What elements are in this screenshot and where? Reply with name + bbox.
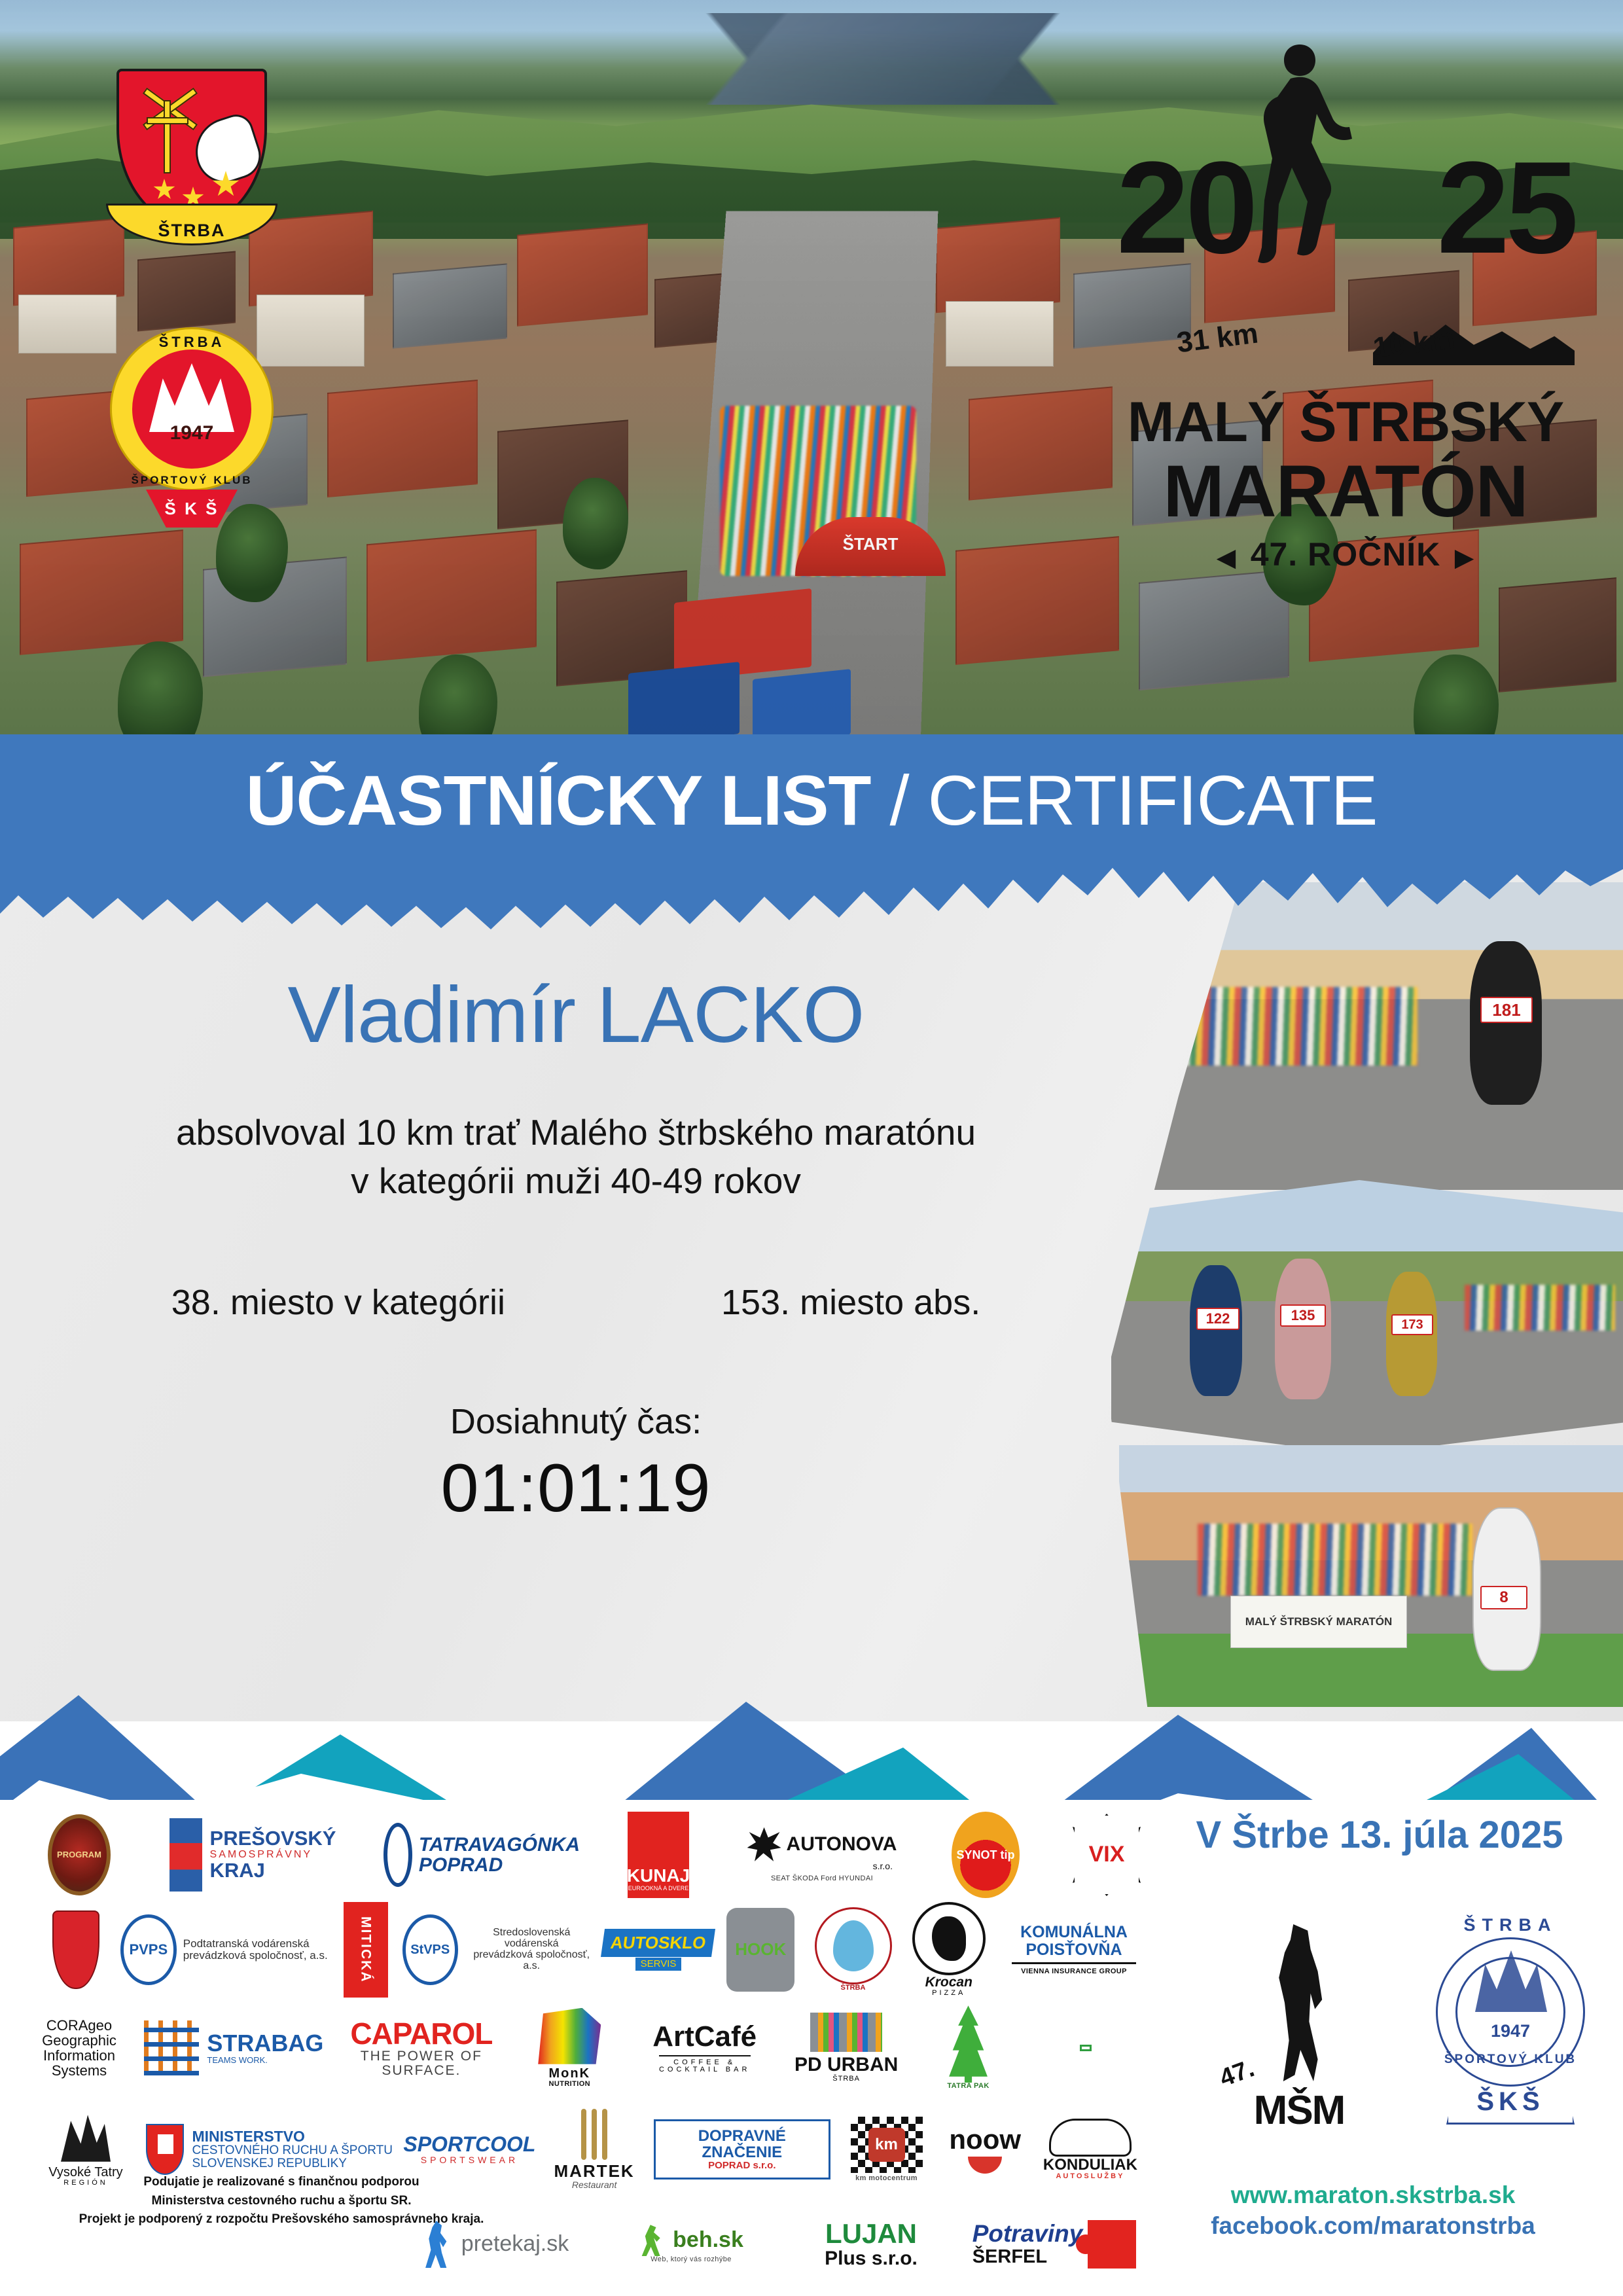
photo-finish-line: MALÝ ŠTRBSKÝ MARATÓN 8 (1119, 1445, 1623, 1707)
sponsor-row: PVPS Podtatranská vodárenská prevádzková… (37, 1901, 1149, 1999)
bib-number: 181 (1480, 997, 1533, 1023)
sponsor-label: MARTEK (554, 2162, 635, 2180)
sponsor-monk-nutrition[interactable]: ArtCafé COFFEE & COCKTAIL BAR (643, 2022, 767, 2073)
club-bottom-label: ŠPORTOVÝ KLUB (110, 474, 274, 487)
description-line-2: v kategórii muži 40-49 rokov (0, 1157, 1152, 1206)
sponsor-sub: POPRAD s.r.o. (708, 2161, 776, 2171)
sponsor-sub: SPORTSWEAR (421, 2155, 518, 2165)
sponsor-label: PROGRAM (57, 1850, 101, 1859)
sponsor-sub: TEAMS WORK. (207, 2056, 267, 2065)
placement-row: 38. miesto v kategórii 153. miesto abs. (0, 1282, 1152, 1323)
place-absolute: 153. miesto abs. (721, 1282, 980, 1323)
sponsor-label (1080, 2045, 1092, 2051)
certificate-title-banner: ÚČASTNÍCKY LIST / CERTIFICATE (0, 734, 1623, 865)
sponsor-row: CORAgeo Geographic Information Systems S… (37, 1999, 1149, 2097)
sponsor-sub: PIZZA (932, 1990, 965, 1998)
sponsor-sub: NUTRITION (549, 2081, 590, 2089)
sponsor-sportcool[interactable]: SPORTCOOL SPORTSWEAR (404, 2134, 535, 2165)
sponsor-program[interactable]: PROGRAM (37, 1814, 122, 1895)
sponsor-dopravne-znacenie[interactable]: DOPRAVNÉ ZNAČENIE POPRAD s.r.o. (654, 2119, 830, 2179)
sponsor-label: MonK (548, 2067, 590, 2081)
sponsor-tatra-pak[interactable] (1025, 2045, 1149, 2051)
sponsor-label: MINISTERSTVO (192, 2128, 305, 2144)
sponsor-label: LUJAN (825, 2219, 917, 2248)
sponsor-sub2: SEAT ŠKODA Ford HYUNDAI (771, 1875, 873, 1883)
brand-line-3: 47. ROČNÍK (1116, 535, 1575, 573)
club-top-label: ŠTRBA (110, 334, 274, 351)
sponsor-miticka[interactable]: MITICKÁ (333, 1902, 399, 1998)
place-in-category: 38. miesto v kategórii (171, 1282, 505, 1323)
sponsor-label: AUTOSKLO (609, 1933, 707, 1952)
sponsor-label: ArtCafé (652, 2022, 757, 2052)
sponsor-label: STRABAG (207, 2031, 323, 2056)
sponsor-sub: CESTOVNÉHO RUCHU A ŠPORTU (192, 2144, 393, 2157)
strba-coat-of-arms: ŠTRBA (116, 69, 267, 245)
sponsor-sub: POPRAD (419, 1855, 503, 1876)
sponsor-label: StVPS (410, 1943, 450, 1957)
sponsor-sub: SERVIS (635, 1958, 682, 1971)
sks-abbr: ŠKŠ (1432, 2087, 1589, 2117)
sponsor-strabag[interactable]: CAPAROL THE POWER OF SURFACE. (346, 2018, 497, 2078)
sponsor-sub: EUROOKNÁ A DVERE (628, 1886, 689, 1892)
distance-short: 10 km (1371, 323, 1456, 365)
sks-top-label: ŠTRBA (1432, 1915, 1589, 1935)
sponsor-label: KUNAJ (627, 1866, 690, 1885)
sponsor-sub: ŠTRBA (841, 1984, 866, 1992)
sponsor-sub: Restaurant (572, 2180, 616, 2190)
crest-label: ŠTRBA (158, 221, 226, 243)
sponsor-label: pretekaj.sk (461, 2233, 569, 2256)
sponsor-potraviny-serfel[interactable]: Potraviny ŠERFEL (959, 2220, 1149, 2269)
sponsor-caparol[interactable]: MonK NUTRITION (510, 2008, 628, 2089)
sponsor-hasicsky-zbor[interactable]: ŠTRBA (808, 1907, 899, 1992)
sponsor-vix[interactable]: VIX (1064, 1814, 1149, 1896)
sponsor-label: MITICKÁ (358, 1916, 372, 1983)
sponsor-sub: Plus s.r.o. (825, 2248, 918, 2269)
marathon-brand-lockup: 20 25 31 km 10 km MALÝ ŠTRBSKÝ MARATÓN 4… (1116, 43, 1575, 606)
distance-long: 31 km (1175, 317, 1260, 360)
sponsor-label: beh.sk (673, 2229, 743, 2252)
sponsor-sub: ŠERFEL (972, 2247, 1047, 2267)
description-line-1: absolvoval 10 km trať Malého štrbského m… (0, 1109, 1152, 1157)
sponsor-sub2: KRAJ (210, 1860, 265, 1882)
sponsor-sub: COFFEE & COCKTAIL BAR (643, 2059, 767, 2074)
sponsor-label: AUTONOVA (787, 1834, 897, 1855)
brand-year-left: 20 (1116, 154, 1254, 262)
sponsor-sub: s.r.o. (873, 1861, 893, 1871)
sponsor-label: HOOK (735, 1941, 786, 1958)
sponsor-km-motocentrum[interactable]: km km motocentrum (834, 2117, 939, 2183)
sks-club-stamp: ŠTRBA 1947 ŠPORTOVÝ KLUB ŠKŠ (1432, 1911, 1589, 2127)
sponsor-label: SPORTCOOL (403, 2134, 535, 2156)
sponsor-liptovska-teplicka-crest[interactable] (37, 1910, 115, 1989)
hero-photo: ŠTRBA ŠTRBA 1947 ŠPORTOVÝ KLUB Š K Š 20 … (0, 0, 1623, 759)
sponsor-row: PROGRAM PREŠOVSKÝ SAMOSPRÁVNY KRAJ TATRA… (37, 1809, 1149, 1901)
banner-torn-edge (0, 857, 1623, 929)
sponsor-label: VIX (1089, 1843, 1125, 1867)
sponsor-sub: Web, ktorý vás rozhýbe (651, 2256, 732, 2264)
sponsor-martek[interactable]: MARTEK Restaurant (539, 2109, 650, 2190)
funding-note-line-1: Podujatie je realizované s finančnou pod… (39, 2173, 524, 2192)
msm-event-logo: 47. MŠM (1217, 1918, 1381, 2134)
bib-number: 122 (1196, 1308, 1240, 1330)
bib-number: 173 (1391, 1314, 1433, 1335)
sponsor-sub2: prevádzková spoločnosť, a.s. (183, 1950, 328, 1962)
brand-year-right: 25 (1437, 154, 1575, 262)
funding-note: Podujatie je realizované s finančnou pod… (39, 2173, 524, 2229)
sponsor-komunalna-poistovna[interactable]: KOMUNÁLNA POISŤOVŇA VIENNA INSURANCE GRO… (999, 1924, 1149, 1975)
sponsor-label: KOMUNÁLNA POISŤOVŇA (999, 1924, 1149, 1958)
sponsor-autonova[interactable]: AUTONOVA s.r.o. SEAT ŠKODA Ford HYUNDAI (737, 1827, 907, 1882)
sponsor-sub2: prevádzková spoločnosť, a.s. (465, 1950, 599, 1972)
sponsor-noow[interactable]: noow (942, 2125, 1027, 2174)
brand-year: 20 25 (1116, 154, 1575, 262)
sponsor-label: noow (949, 2125, 1021, 2154)
sponsor-kunaj[interactable]: KUNAJ EUROOKNÁ A DVERE (616, 1812, 701, 1898)
sponsor-lujan-plus[interactable]: LUJAN Plus s.r.o. (796, 2219, 946, 2269)
certificate-content: Vladimír LACKO absolvoval 10 km trať Mal… (0, 969, 1152, 1528)
contact-links: www.maraton.skstrba.sk facebook.com/mara… (1157, 2179, 1589, 2242)
msm-runner-icon (1263, 1924, 1335, 2081)
sks-year: 1947 (1432, 2021, 1589, 2041)
sponsor-hook[interactable]: HOOK (718, 1908, 803, 1992)
sponsor-label: PVPS (129, 1942, 168, 1957)
sponsor-sub2: SLOVENSKEJ REPUBLIKY (192, 2157, 347, 2170)
bib-number: 8 (1480, 1586, 1527, 1609)
facebook-link[interactable]: facebook.com/maratonstrba (1157, 2210, 1589, 2241)
brand-line-1: MALÝ ŠTRBSKÝ (1116, 390, 1575, 455)
brand-distances: 31 km 10 km (1116, 305, 1575, 384)
sponsor-sub: VIENNA INSURANCE GROUP (1021, 1968, 1127, 1976)
sponsor-liptovska-teplicka[interactable]: CORAgeo Geographic Information Systems (37, 2018, 122, 2078)
sponsor-label: Potraviny (972, 2221, 1083, 2247)
sponsor-label: Krocan (925, 1975, 972, 1990)
sponsor-konduliak[interactable]: KONDULIAK AUTOSLUŽBY (1031, 2119, 1149, 2181)
sponsor-krocan-pizza[interactable]: Krocan PIZZA (903, 1902, 995, 1998)
sponsor-presovsky-kraj[interactable]: PREŠOVSKÝ SAMOSPRÁVNY KRAJ (158, 1818, 348, 1892)
sponsor-pvps[interactable]: PVPS Podtatranská vodárenská prevádzková… (119, 1914, 329, 1985)
funding-note-line-3: Projekt je podporený z rozpočtu Prešovsk… (39, 2210, 524, 2229)
sponsor-tatravagonka[interactable]: TATRAVAGÓNKA POPRAD (383, 1823, 580, 1887)
brand-line-2: MARATÓN (1116, 449, 1575, 533)
sponsors-footer: PROGRAM PREŠOVSKÝ SAMOSPRÁVNY KRAJ TATRA… (0, 1800, 1623, 2296)
sponsor-label: PREŠOVSKÝ (210, 1828, 336, 1850)
sponsor-label: PD URBAN (794, 2054, 898, 2075)
participant-name: Vladimír LACKO (0, 969, 1152, 1060)
sponsor-sub: ŠTRBA (832, 2075, 860, 2083)
sponsor-label: TATRA PAK (947, 2083, 989, 2090)
sponsor-label: TATRAVAGÓNKA (419, 1835, 580, 1856)
sponsor-ministerstvo[interactable]: MINISTERSTVO CESTOVNÉHO RUCHU A ŠPORTU S… (139, 2124, 401, 2175)
sponsor-label: CAPAROL (350, 2018, 492, 2049)
time-label: Dosiahnutý čas: (0, 1401, 1152, 1442)
page-title: ÚČASTNÍCKY LIST / CERTIFICATE (245, 759, 1377, 841)
funding-note-line-2: Ministerstva cestovného ruchu a športu S… (39, 2192, 524, 2211)
sponsor-corageo[interactable]: STRABAG TEAMS WORK. (135, 2020, 332, 2075)
sponsor-sub: Geographic Information Systems (37, 2033, 122, 2078)
bib-number: 135 (1280, 1304, 1326, 1327)
crest-ribbon: ŠTRBA (106, 204, 277, 245)
sponsor-label: SYNOT tip (957, 1849, 1015, 1861)
sponsor-label: km motocentrum (855, 2175, 918, 2183)
sponsor-sub: Stredoslovenská vodárenská (465, 1928, 599, 1950)
sponsor-label: KONDULIAK (1043, 2157, 1137, 2173)
sponsor-stvps[interactable]: StVPS Stredoslovenská vodárenská prevádz… (402, 1914, 599, 1985)
sponsor-sub: THE POWER OF SURFACE. (346, 2049, 497, 2078)
msm-abbr: MŠM (1217, 2087, 1381, 2134)
club-year: 1947 (110, 422, 274, 444)
sponsor-artcafe[interactable]: PD URBAN ŠTRBA (781, 2013, 912, 2083)
photo-runners-uphill: 122 135 173 (1111, 1180, 1623, 1455)
sponsor-label: CORAgeo (46, 2018, 112, 2033)
sponsor-pd-urban[interactable]: TATRA PAK (926, 2005, 1011, 2090)
sks-mid-label: ŠPORTOVÝ KLUB (1432, 2053, 1589, 2067)
sponsor-autosklo[interactable]: AUTOSKLO SERVIS (603, 1929, 714, 1970)
sponsor-sub: Podtatranská vodárenská (183, 1938, 310, 1950)
title-english: / CERTIFICATE (871, 761, 1378, 840)
finish-banner: MALÝ ŠTRBSKÝ MARATÓN (1230, 1596, 1407, 1648)
sponsor-sub: AUTOSLUŽBY (1056, 2173, 1124, 2181)
issue-date: V Štrbe 13. júla 2025 (1170, 1813, 1589, 1857)
sports-club-badge: ŠTRBA 1947 ŠPORTOVÝ KLUB Š K Š (110, 327, 274, 491)
sponsor-synot-tip[interactable]: SYNOT tip (943, 1812, 1028, 1898)
sponsor-label: DOPRAVNÉ ZNAČENIE (665, 2128, 819, 2161)
finish-time: 01:01:19 (0, 1450, 1152, 1528)
website-link[interactable]: www.maraton.skstrba.sk (1157, 2179, 1589, 2210)
sponsor-behsk[interactable]: beh.sk Web, ktorý vás rozhýbe (599, 2225, 783, 2264)
title-slovak: ÚČASTNÍCKY LIST (245, 761, 870, 840)
club-abbr: Š K Š (165, 499, 219, 519)
